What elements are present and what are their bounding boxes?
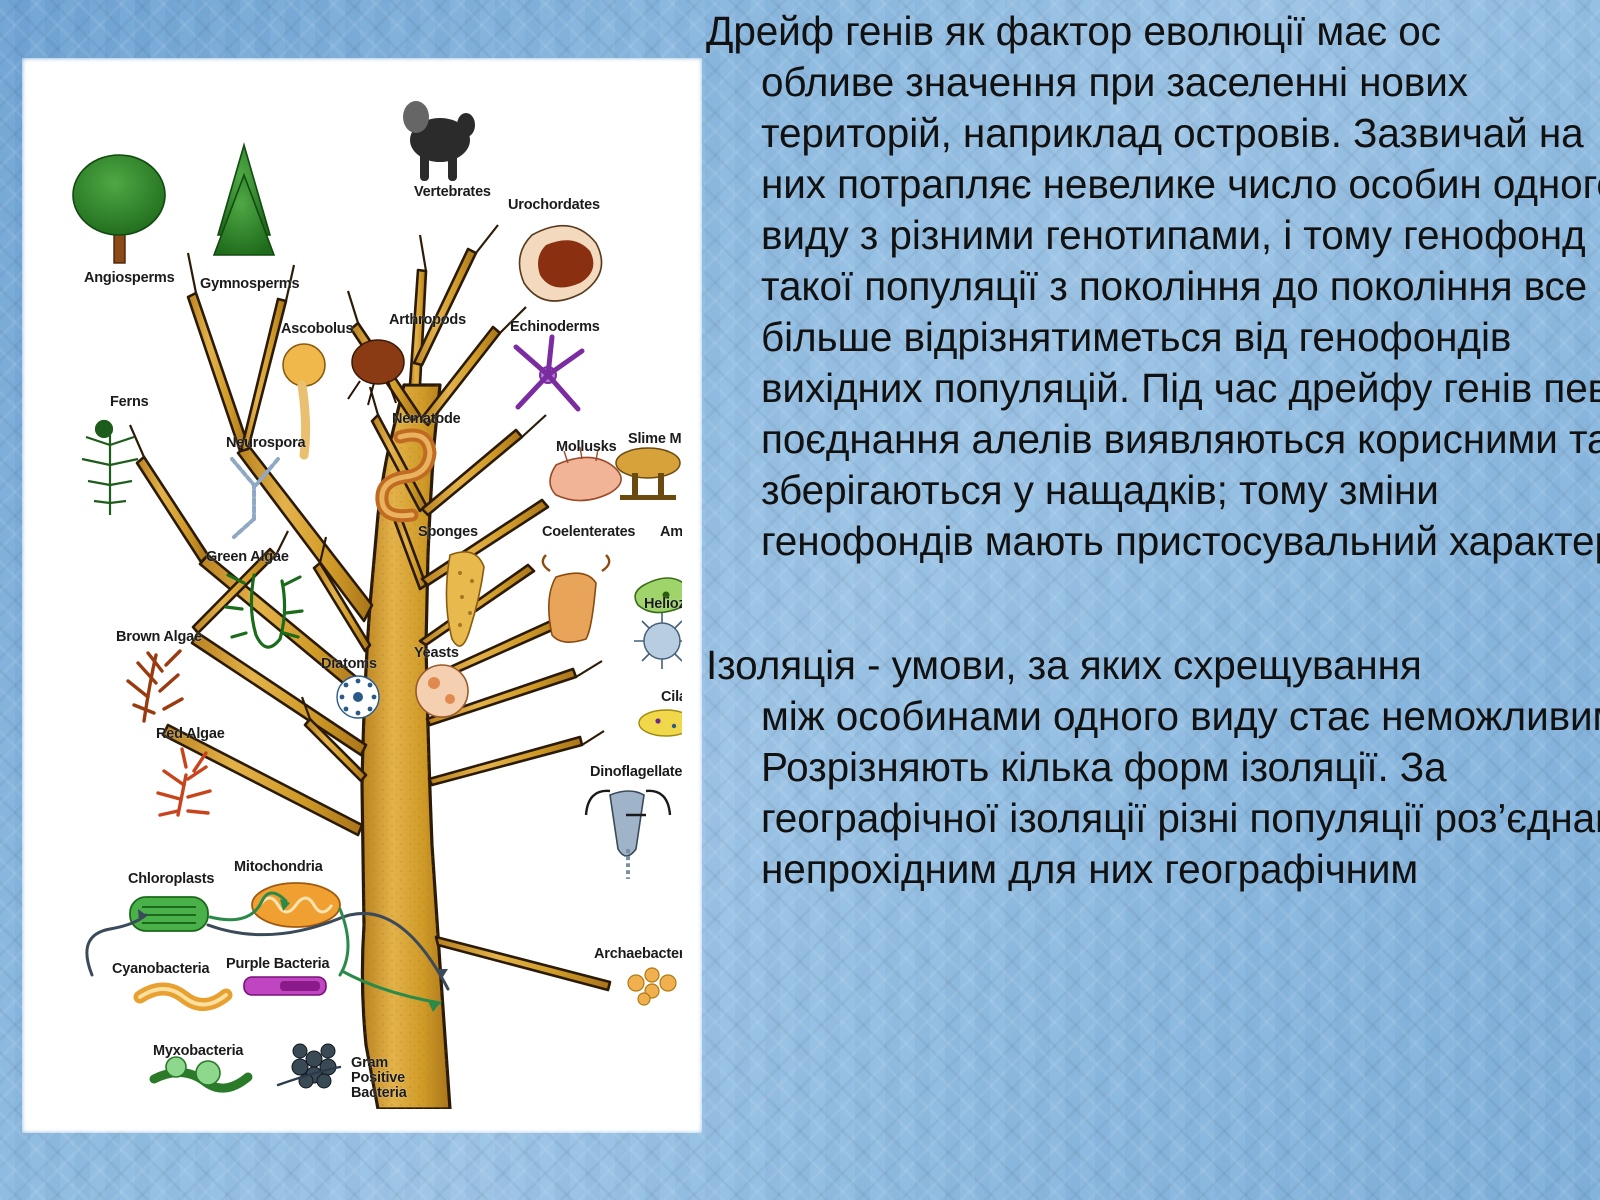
label-neurospora: Neurospora (226, 436, 305, 451)
label-chloroplasts: Chloroplasts (128, 872, 214, 887)
label-red-algae: Red Algae (156, 727, 225, 742)
label-angiosperms: Angiosperms (84, 271, 174, 286)
label-coelenterates: Coelenterates (542, 525, 635, 540)
label-mollusks: Mollusks (556, 440, 616, 455)
label-gymnosperms: Gymnosperms (200, 277, 299, 292)
label-nematode: Nematode (392, 412, 461, 427)
label-heliozansus: Heliozansus (644, 597, 682, 612)
icon-purple-bacteria (244, 977, 326, 995)
paragraph-2-first-line: Ізоляція - умови, за яких схрещування (706, 640, 1600, 691)
icon-vertebrate (403, 101, 475, 181)
label-archaebacteria: Archaebacteria (594, 947, 682, 962)
label-ferns: Ferns (110, 395, 149, 410)
label-slime-molds: Slime Molds (628, 432, 682, 447)
label-brown-algae: Brown Algae (116, 630, 202, 645)
label-dinoflagellates: Dinoflagellates (590, 765, 682, 780)
label-urochordates: Urochordates (508, 198, 600, 213)
paragraph-1-first-line: Дрейф генів як фактор еволюції має ос (706, 6, 1600, 57)
label-purple-bacteria: Purple Bacteria (226, 957, 329, 972)
icon-yeasts (416, 665, 468, 717)
icon-urochordate (520, 226, 602, 301)
label-echinoderms: Echinoderms (510, 320, 600, 335)
icon-dinoflagellates (586, 791, 670, 879)
label-vertebrates: Vertebrates (414, 185, 491, 200)
paragraph-isolation: Ізоляція - умови, за яких схрещування мі… (706, 640, 1600, 895)
label-arthropods: Arthropods (389, 313, 466, 328)
label-cilates: Cilates (661, 690, 682, 705)
slide-canvas: Angiosperms Gymnosperms Vertebrates Uroc… (0, 0, 1600, 1200)
icon-red-algae (158, 749, 210, 815)
label-yeasts: Yeasts (414, 646, 459, 661)
paragraph-1-rest: обливе значення при заселенні нових тери… (761, 59, 1600, 564)
icon-heliozansus (634, 613, 682, 669)
paragraph-2-rest: між особинами одного виду стає неможливи… (761, 693, 1600, 892)
label-green-algae: Green Algae (206, 550, 289, 565)
label-gram-positive-bacteria: Gram Positive Bacteria (351, 1056, 443, 1102)
icon-myxobacteria (154, 1057, 248, 1088)
tree-trunk (362, 385, 450, 1109)
icon-diatoms (337, 676, 379, 718)
icon-fern (82, 421, 138, 515)
label-diatoms: Diatoms (321, 657, 377, 672)
icon-coelenterate (543, 555, 609, 642)
label-ascobolus: Ascobolus (281, 322, 353, 337)
label-mitochondria: Mitochondria (234, 860, 323, 875)
icon-cilates (639, 710, 682, 736)
icon-archaebacteria (628, 968, 676, 1005)
icon-mitochondria (252, 883, 340, 927)
icon-angiosperm (73, 155, 165, 263)
icon-gymnosperm (214, 145, 274, 255)
text-body: Дрейф генів як фактор еволюції має особл… (706, 0, 1600, 1200)
icon-sponge (446, 552, 484, 646)
phylogenetic-tree-svg (48, 85, 682, 1109)
icon-echinoderm (516, 337, 582, 409)
label-sponges: Sponges (418, 525, 478, 540)
icon-cyanobacteria (140, 989, 226, 1005)
label-amoeba: Amoeba (660, 525, 682, 540)
paragraph-gene-drift: Дрейф генів як фактор еволюції має особл… (706, 6, 1600, 567)
tree-of-life-picture[interactable]: Angiosperms Gymnosperms Vertebrates Uroc… (22, 58, 702, 1133)
picture-canvas: Angiosperms Gymnosperms Vertebrates Uroc… (48, 85, 682, 1109)
icon-slime-mold (616, 448, 680, 500)
icon-gram-positive-bacteria (292, 1044, 336, 1088)
icon-brown-algae (128, 651, 182, 721)
label-myxobacteria: Myxobacteria (153, 1044, 243, 1059)
label-cyanobacteria: Cyanobacteria (112, 962, 209, 977)
